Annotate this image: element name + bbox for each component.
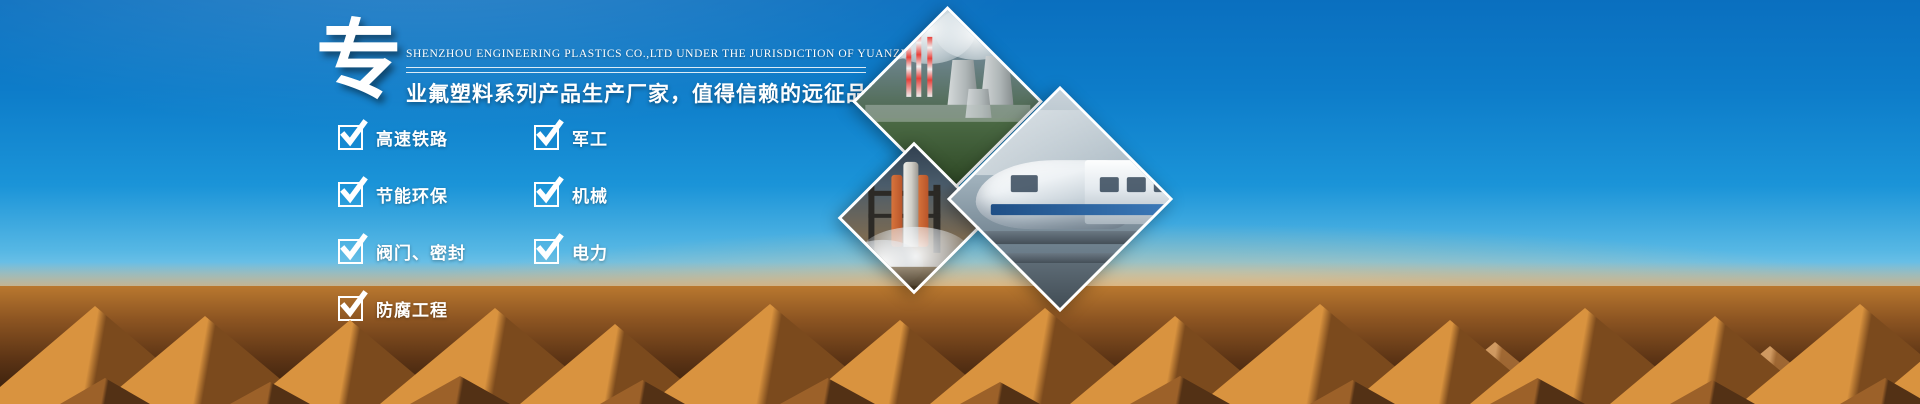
diamond-photo-gallery [820,24,1240,304]
list-item[interactable]: 机械 [534,175,608,213]
check-icon [534,182,559,207]
logo-mark: 专 [316,18,402,104]
chinese-tagline: 业氟塑料系列产品生产厂家，值得信赖的远征品牌 [406,78,890,108]
check-icon [534,125,559,150]
check-icon [534,239,559,264]
list-item-label: 节能环保 [376,182,448,207]
check-icon [338,182,363,207]
list-item-label: 军工 [572,125,608,150]
list-item[interactable]: 高速铁路 [338,118,466,156]
checklist-right-column: 军工 机械 电力 [534,118,608,289]
list-item[interactable]: 军工 [534,118,608,156]
divider-top [406,67,866,68]
check-icon [338,125,363,150]
checklist-left-column: 高速铁路 节能环保 阀门、密封 防腐工程 [338,118,466,346]
list-item-label: 机械 [572,182,608,207]
list-item-label: 高速铁路 [376,125,448,150]
check-icon [338,239,363,264]
divider-bottom [406,72,866,73]
check-icon [338,296,363,321]
list-item-label: 防腐工程 [376,296,448,321]
list-item-label: 阀门、密封 [376,239,466,264]
promo-banner: 专 SHENZHOU ENGINEERING PLASTICS CO.,LTD … [0,0,1920,404]
list-item[interactable]: 电力 [534,232,608,270]
list-item[interactable]: 防腐工程 [338,289,466,327]
list-item[interactable]: 阀门、密封 [338,232,466,270]
list-item-label: 电力 [572,239,608,264]
list-item[interactable]: 节能环保 [338,175,466,213]
